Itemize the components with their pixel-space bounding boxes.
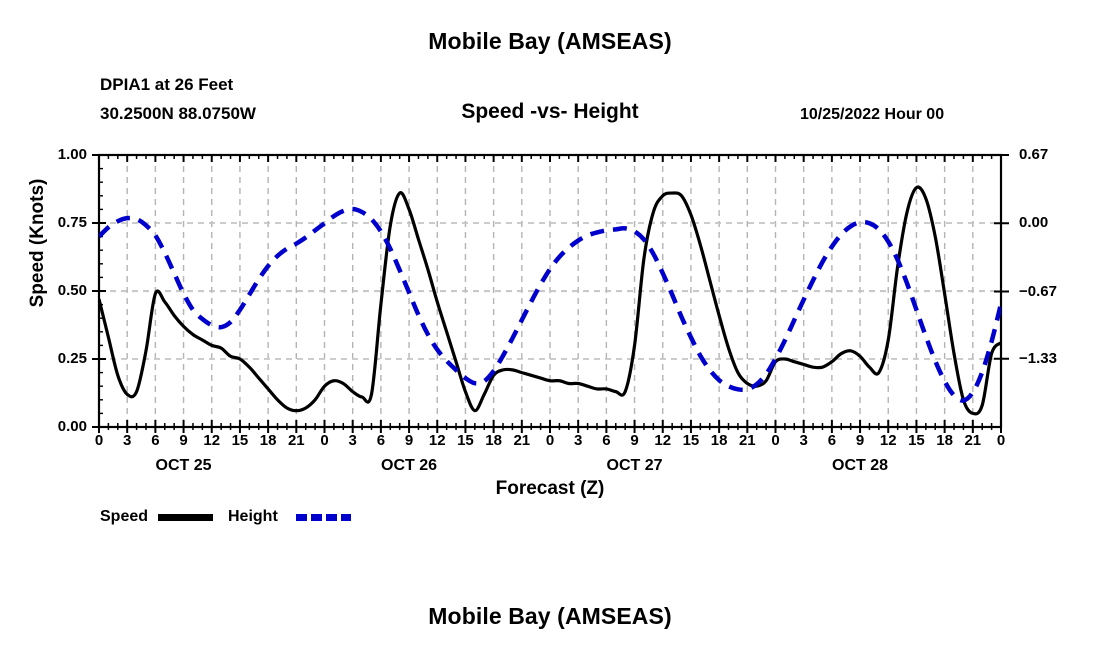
x-axis-day-label: OCT 28 bbox=[800, 457, 920, 475]
x-tick-label: 12 bbox=[199, 432, 225, 449]
x-tick-label: 3 bbox=[340, 432, 366, 449]
x-tick-label: 12 bbox=[650, 432, 676, 449]
bottom-title: Mobile Bay (AMSEAS) bbox=[0, 603, 1100, 630]
y-tick-label-left: 1.00 bbox=[27, 146, 87, 163]
x-tick-label: 15 bbox=[903, 432, 929, 449]
legend-label-speed: Speed bbox=[100, 508, 148, 526]
chart-canvas: Mobile Bay (AMSEAS) DPIA1 at 26 Feet 30.… bbox=[0, 0, 1100, 650]
x-tick-label: 3 bbox=[114, 432, 140, 449]
y-tick-label-left: 0.25 bbox=[27, 350, 87, 367]
legend-swatch-height bbox=[296, 514, 351, 521]
x-tick-label: 6 bbox=[142, 432, 168, 449]
x-tick-label: 18 bbox=[255, 432, 281, 449]
x-tick-label: 12 bbox=[875, 432, 901, 449]
x-tick-label: 18 bbox=[932, 432, 958, 449]
y-tick-label-right: 0.67 bbox=[1019, 146, 1089, 163]
x-tick-label: 18 bbox=[481, 432, 507, 449]
x-tick-label: 0 bbox=[86, 432, 112, 449]
x-tick-label: 0 bbox=[763, 432, 789, 449]
legend-label-height: Height bbox=[228, 508, 278, 526]
x-tick-label: 0 bbox=[312, 432, 338, 449]
x-tick-label: 6 bbox=[368, 432, 394, 449]
x-axis-day-label: OCT 26 bbox=[349, 457, 469, 475]
x-axis-day-label: OCT 27 bbox=[575, 457, 695, 475]
y-tick-label-right: −1.33 bbox=[1019, 350, 1089, 367]
x-tick-label: 6 bbox=[593, 432, 619, 449]
x-tick-label: 0 bbox=[537, 432, 563, 449]
x-tick-label: 9 bbox=[622, 432, 648, 449]
x-tick-label: 6 bbox=[819, 432, 845, 449]
y-tick-label-right: 0.00 bbox=[1019, 214, 1089, 231]
y-tick-label-left: 0.75 bbox=[27, 214, 87, 231]
x-tick-label: 9 bbox=[171, 432, 197, 449]
x-tick-label: 9 bbox=[847, 432, 873, 449]
x-tick-label: 15 bbox=[227, 432, 253, 449]
x-tick-label: 12 bbox=[424, 432, 450, 449]
x-tick-label: 21 bbox=[734, 432, 760, 449]
x-tick-label: 0 bbox=[988, 432, 1014, 449]
x-tick-label: 3 bbox=[565, 432, 591, 449]
x-tick-label: 3 bbox=[791, 432, 817, 449]
plot-area bbox=[0, 0, 1100, 650]
x-axis-day-label: OCT 25 bbox=[124, 457, 244, 475]
x-tick-label: 21 bbox=[960, 432, 986, 449]
x-tick-label: 18 bbox=[706, 432, 732, 449]
x-tick-label: 9 bbox=[396, 432, 422, 449]
x-tick-label: 21 bbox=[283, 432, 309, 449]
x-tick-label: 21 bbox=[509, 432, 535, 449]
y-tick-label-right: −0.67 bbox=[1019, 283, 1089, 300]
x-tick-label: 15 bbox=[678, 432, 704, 449]
y-tick-label-left: 0.00 bbox=[27, 418, 87, 435]
legend-swatch-speed bbox=[158, 514, 213, 521]
x-tick-label: 15 bbox=[452, 432, 478, 449]
y-tick-label-left: 0.50 bbox=[27, 282, 87, 299]
